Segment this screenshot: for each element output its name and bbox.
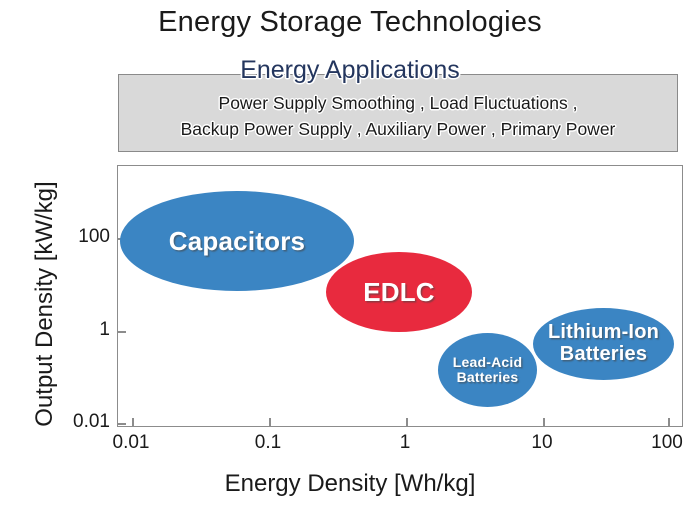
- x-tick-label: 0.01: [113, 432, 150, 454]
- bubble-edlc[interactable]: EDLC: [326, 252, 472, 332]
- bubble-capacitors[interactable]: Capacitors: [120, 191, 354, 291]
- y-tick-mark: [118, 331, 126, 333]
- chart-canvas: Energy Storage Technologies Power Supply…: [0, 0, 700, 517]
- x-tick-mark: [406, 418, 408, 426]
- x-tick-mark: [668, 418, 670, 426]
- x-tick-mark: [269, 418, 271, 426]
- bubble-lead-acid-batteries[interactable]: Lead-AcidBatteries: [438, 333, 537, 407]
- x-tick-label: 0.1: [255, 432, 281, 454]
- x-tick-mark: [543, 418, 545, 426]
- y-tick-mark: [118, 423, 126, 425]
- page-title: Energy Storage Technologies: [0, 6, 700, 39]
- x-axis-title: Energy Density [Wh/kg]: [0, 470, 700, 498]
- y-axis-title: Output Density [kW/kg]: [31, 154, 59, 454]
- x-tick-label: 10: [531, 432, 552, 454]
- plot-area: CapacitorsEDLCLead-AcidBatteriesLithium-…: [117, 165, 683, 427]
- energy-applications-title: Energy Applications: [0, 56, 700, 85]
- bubble-label: EDLC: [363, 278, 435, 306]
- bubble-label: Lead-AcidBatteries: [453, 355, 522, 385]
- bubble-lithium-ion-batteries[interactable]: Lithium-IonBatteries: [533, 308, 674, 380]
- energy-applications-text: Power Supply Smoothing , Load Fluctuatio…: [118, 90, 678, 142]
- x-tick-mark: [132, 418, 134, 426]
- bubble-label: Capacitors: [169, 227, 305, 255]
- x-tick-label: 100: [651, 432, 683, 454]
- application-line: Backup Power Supply , Auxiliary Power , …: [118, 116, 678, 142]
- application-line: Power Supply Smoothing , Load Fluctuatio…: [118, 90, 678, 116]
- bubble-label: Lithium-IonBatteries: [548, 322, 659, 365]
- x-tick-label: 1: [400, 432, 411, 454]
